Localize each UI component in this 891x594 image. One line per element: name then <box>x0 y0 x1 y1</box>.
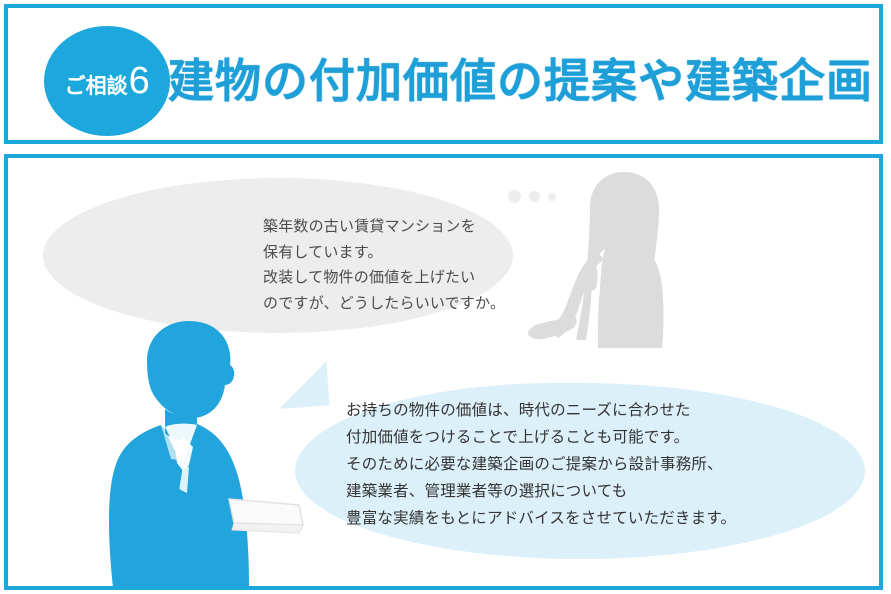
content-panel: 築年数の古い賃貸マンションを 保有しています。 改装して物件の価値を上げたい の… <box>4 154 883 590</box>
badge-text: ご相談 <box>65 76 128 97</box>
answer-line: お持ちの物件の価値は、時代のニーズに合わせた <box>346 397 786 424</box>
answer-text: お持ちの物件の価値は、時代のニーズに合わせた 付加価値をつけることで上げることも… <box>346 397 786 532</box>
businessman-silhouette-icon <box>103 313 318 590</box>
question-line: 改装して物件の価値を上げたい <box>263 265 533 291</box>
page-title: 建物の付加価値の提案や建築企画 <box>168 8 873 148</box>
badge-label: ご相談6 <box>65 62 150 100</box>
answer-line: 建築業者、管理業者等の選択についても <box>346 478 786 505</box>
question-line: 保有しています。 <box>263 240 533 266</box>
answer-line: 豊富な実績をもとにアドバイスをさせていただきます。 <box>346 505 786 532</box>
consultation-number-badge: ご相談6 <box>44 26 170 136</box>
woman-silhouette-icon <box>528 168 708 358</box>
infographic-page: ご相談6 建物の付加価値の提案や建築企画 築年数の古い賃貸マンションを 保有して… <box>0 0 891 594</box>
question-line: 築年数の古い賃貸マンションを <box>263 214 533 240</box>
thought-dot-large <box>508 190 521 203</box>
header-panel: ご相談6 建物の付加価値の提案や建築企画 <box>4 4 883 144</box>
question-text: 築年数の古い賃貸マンションを 保有しています。 改装して物件の価値を上げたい の… <box>263 214 533 316</box>
answer-line: そのために必要な建築企画のご提案から設計事務所、 <box>346 451 786 478</box>
badge-number: 6 <box>129 62 150 100</box>
answer-line: 付加価値をつけることで上げることも可能です。 <box>346 424 786 451</box>
